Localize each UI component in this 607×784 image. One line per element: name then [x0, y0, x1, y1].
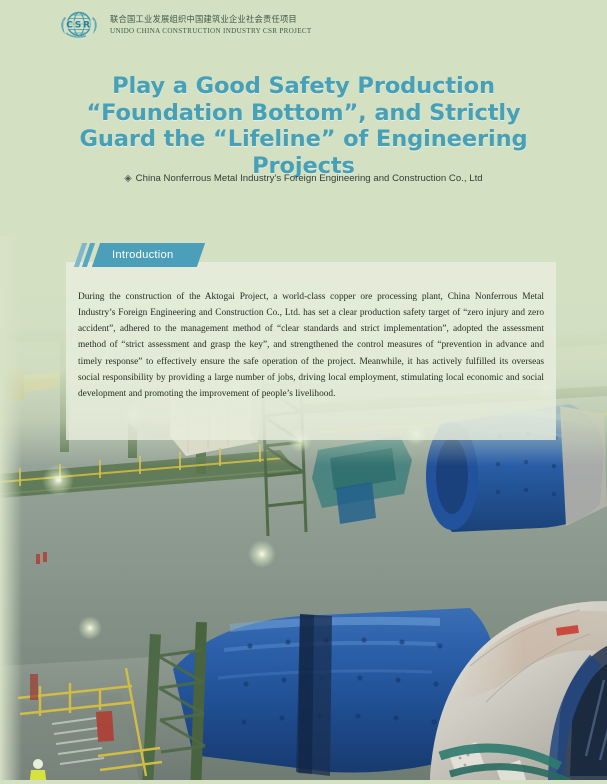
diamond-bullet-icon: ◈ — [124, 173, 131, 184]
header-title-english: UNIDO CHINA CONSTRUCTION INDUSTRY CSR PR… — [110, 27, 312, 36]
svg-text:CSR: CSR — [66, 20, 91, 31]
byline-organization: China Nonferrous Metal Industry’s Foreig… — [136, 173, 483, 184]
article-byline: ◈China Nonferrous Metal Industry’s Forei… — [50, 173, 557, 184]
header-title-chinese: 联合国工业发展组织中国建筑业企业社会责任项目 — [110, 14, 312, 24]
page-root: CSR 联合国工业发展组织中国建筑业企业社会责任项目 UNIDO CHINA C… — [0, 0, 607, 784]
introduction-label: Introduction — [112, 249, 173, 261]
document-header: CSR 联合国工业发展组织中国建筑业企业社会责任项目 UNIDO CHINA C… — [57, 9, 312, 40]
article-title: Play a Good Safety Production “Foundatio… — [50, 73, 557, 179]
header-text-block: 联合国工业发展组织中国建筑业企业社会责任项目 UNIDO CHINA CONST… — [110, 13, 312, 35]
csr-globe-logo-icon: CSR — [57, 9, 101, 40]
introduction-tab: Introduction — [92, 243, 206, 267]
introduction-body-text: During the construction of the Aktogai P… — [78, 289, 544, 402]
introduction-banner: Introduction — [78, 243, 201, 267]
